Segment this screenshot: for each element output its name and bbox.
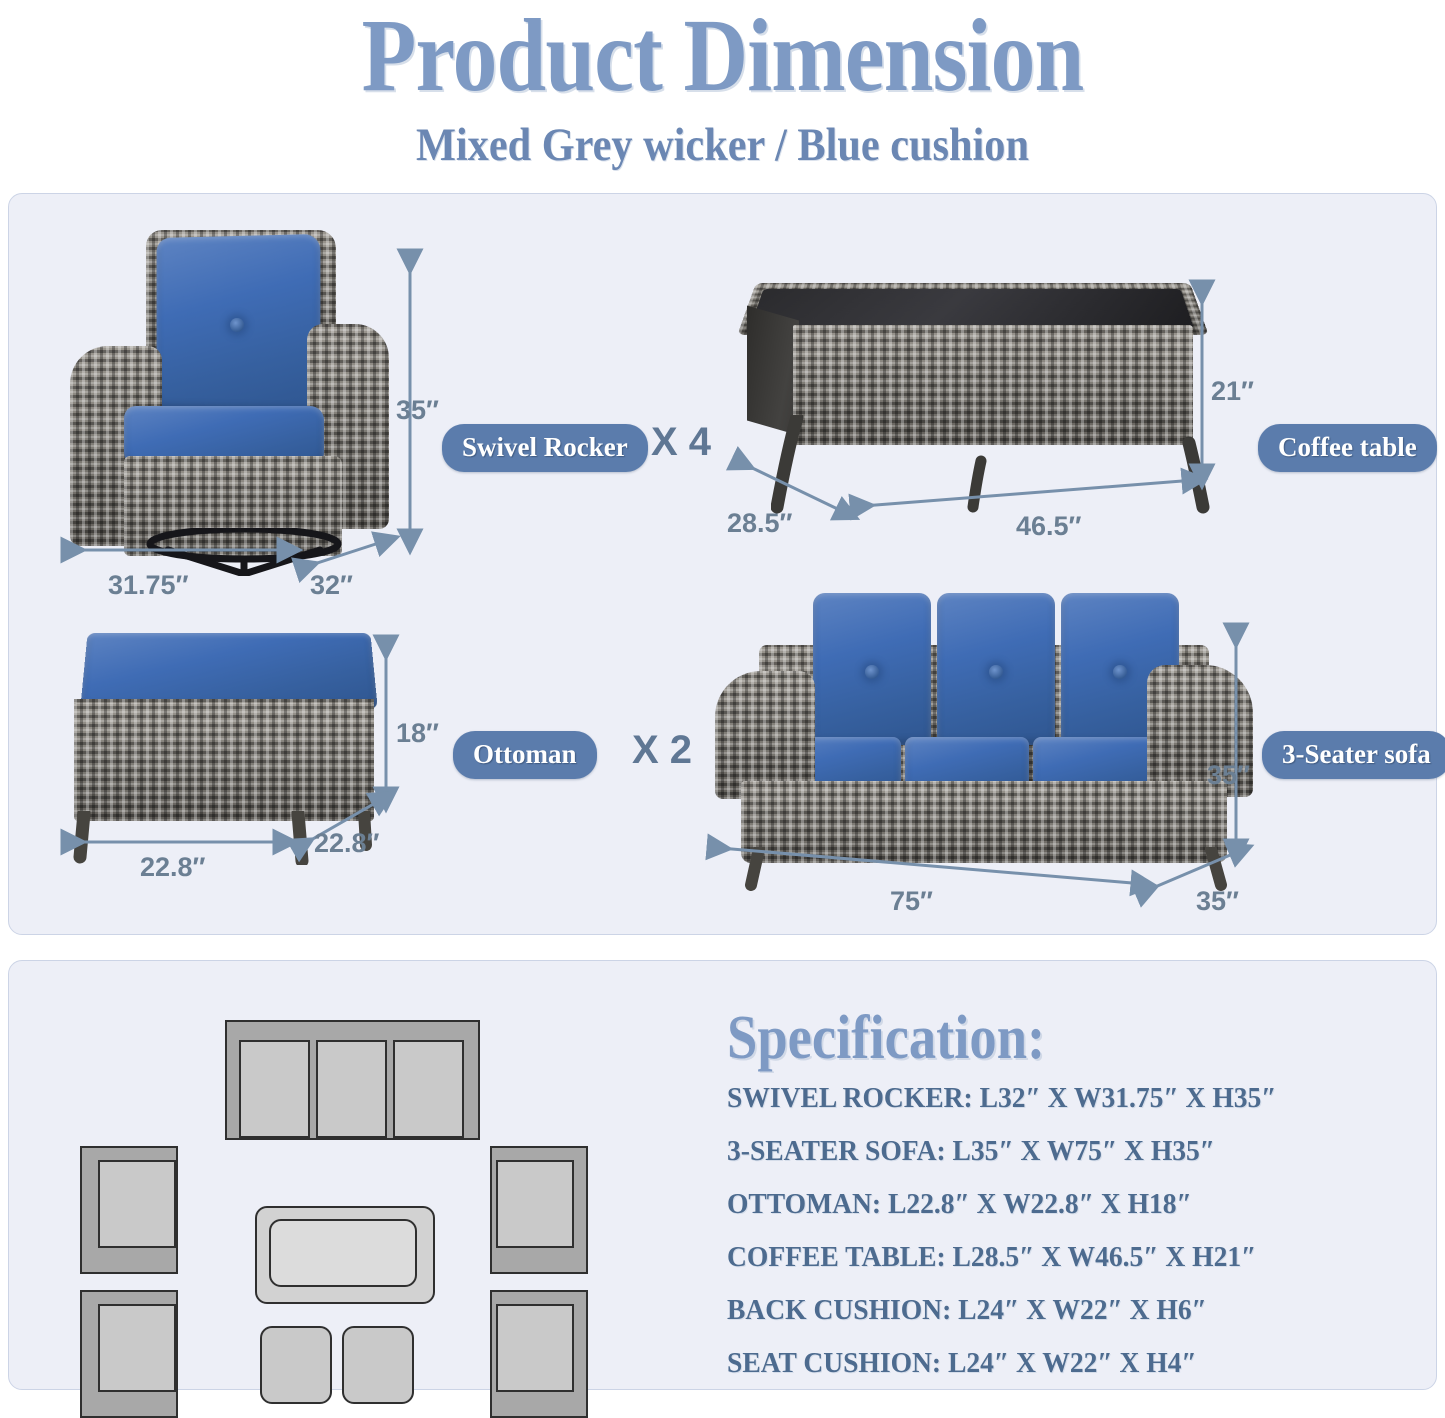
- floorplan-chair-right-upper: [490, 1146, 588, 1274]
- ottoman-height-label: 18″: [396, 718, 439, 749]
- table-width-arrow: [855, 472, 1203, 514]
- swivel-rocker-quantity: X 4: [651, 420, 711, 465]
- floorplan-ottoman-right: [342, 1326, 414, 1404]
- ottoman-depth-label: 22.8″: [314, 828, 379, 859]
- sofa-width-arrow: [712, 840, 1152, 892]
- header: Product Dimension Mixed Grey wicker / Bl…: [0, 0, 1445, 188]
- tuft-button-icon: [865, 665, 879, 679]
- page-subtitle: Mixed Grey wicker / Blue cushion: [72, 118, 1373, 172]
- sofa-width-label: 75″: [890, 886, 933, 917]
- badge-coffee-table: Coffee table: [1258, 424, 1437, 472]
- table-glass-top: [750, 289, 1194, 328]
- ottoman-width-arrow: [66, 830, 294, 854]
- floorplan-chair-seat: [98, 1160, 176, 1248]
- sofa-back-cushion-2: [937, 593, 1055, 745]
- tuft-button-icon: [230, 318, 244, 332]
- floorplan-table-glass: [269, 1219, 417, 1287]
- table-height-label: 21″: [1211, 376, 1254, 407]
- floorplan-sofa-seat-3: [393, 1040, 464, 1138]
- rocker-width-label: 31.75″: [108, 570, 189, 601]
- rocker-width-arrow: [66, 538, 298, 562]
- spec-line-swivel-rocker: SWIVEL ROCKER: L32″ X W31.75″ X H35″: [727, 1082, 1277, 1115]
- floorplan-chair-seat: [98, 1304, 176, 1392]
- spec-line-ottoman: OTTOMAN: L22.8″ X W22.8″ X H18″: [727, 1188, 1192, 1221]
- floorplan-sofa-seat-2: [316, 1040, 387, 1138]
- rocker-depth-arrow: [300, 532, 396, 574]
- sofa-height-arrow: [1224, 628, 1248, 860]
- floorplan-coffee-table: [255, 1206, 435, 1304]
- tuft-button-icon: [989, 665, 1003, 679]
- spec-line-sofa: 3-SEATER SOFA: L35″ X W75″ X H35″: [727, 1135, 1215, 1168]
- sofa-depth-label: 35″: [1196, 886, 1239, 917]
- sofa-left-arm: [715, 671, 815, 799]
- floorplan-sofa-seat-1: [239, 1040, 310, 1138]
- tuft-button-icon: [1113, 665, 1127, 679]
- page-title: Product Dimension: [101, 4, 1344, 108]
- table-depth-label: 28.5″: [727, 508, 792, 539]
- spec-line-back-cushion: BACK CUSHION: L24″ X W22″ X H6″: [727, 1294, 1207, 1327]
- swivel-rocker-illustration: [62, 228, 392, 573]
- ottoman-height-arrow: [374, 640, 398, 808]
- sofa-height-label: 35″: [1207, 760, 1250, 791]
- floorplan-chair-seat: [496, 1304, 574, 1392]
- ottoman-width-label: 22.8″: [140, 852, 205, 883]
- floorplan-sofa: [225, 1020, 480, 1140]
- badge-ottoman: Ottoman: [453, 731, 597, 779]
- floorplan-chair-right-lower: [490, 1290, 588, 1418]
- spec-line-coffee-table: COFFEE TABLE: L28.5″ X W46.5″ X H21″: [727, 1241, 1256, 1274]
- spec-line-seat-cushion: SEAT CUSHION: L24″ X W22″ X H4″: [727, 1347, 1197, 1380]
- floorplan-chair-left-lower: [80, 1290, 178, 1418]
- rocker-height-label: 35″: [396, 395, 439, 426]
- rocker-depth-label: 32″: [310, 570, 353, 601]
- table-width-label: 46.5″: [1016, 511, 1081, 542]
- floorplan-ottoman-left: [260, 1326, 332, 1404]
- specification-heading: Specification:: [727, 1003, 1045, 1074]
- sofa-back-cushion-1: [813, 593, 931, 745]
- ottoman-quantity: X 2: [632, 728, 692, 773]
- floorplan-diagram: [70, 1000, 680, 1370]
- badge-three-seater-sofa: 3-Seater sofa: [1262, 731, 1445, 779]
- floorplan-chair-left-upper: [80, 1146, 178, 1274]
- rocker-back-cushion: [157, 234, 321, 413]
- ottoman-cushion: [80, 633, 378, 709]
- badge-swivel-rocker: Swivel Rocker: [442, 424, 648, 472]
- floorplan-chair-seat: [496, 1160, 574, 1248]
